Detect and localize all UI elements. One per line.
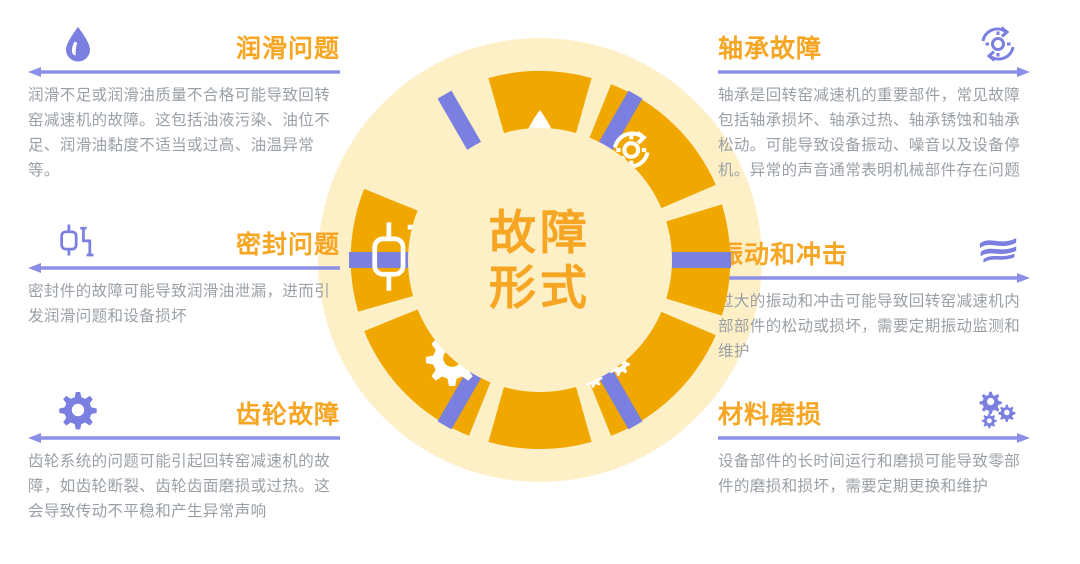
panel-gear-arrow [28,432,340,444]
gear-icon [58,390,98,430]
multi-gear-icon [978,390,1018,430]
gear-rotation-icon [978,24,1018,64]
panel-gear-body: 齿轮系统的问题可能引起回转窑减速机的故障，如齿轮断裂、齿轮齿面磨损或过热。这会导… [28,449,340,524]
center-title-line2: 形式 [489,260,591,315]
panel-bearing[interactable]: 轴承故障 轴承是回转窑减速机的重要部件，常见故障包括轴承损坏、轴承过热、轴承锈蚀… [718,16,1030,183]
panel-bearing-body: 轴承是回转窑减速机的重要部件，常见故障包括轴承损坏、轴承过热、轴承锈蚀和轴承松动… [718,83,1030,183]
panel-bearing-header: 轴承故障 [718,16,1030,62]
center-title-line1: 故障 [489,205,591,260]
panel-vibration-arrow [718,272,1030,284]
panel-wear-body: 设备部件的长时间运行和磨损可能导致零部件的磨损和损坏，需要定期更换和维护 [718,449,1030,499]
panel-lubrication-header: 润滑问题 [28,16,340,62]
droplet-icon [58,24,98,64]
panel-wear[interactable]: 材料磨损 设备部件的长时间运行和磨损可能导致零部件的磨损和损坏，需要定期更换和维… [718,382,1030,499]
panel-bearing-arrow [718,66,1030,78]
panel-lubrication-arrow [28,66,340,78]
separator-bar-2 [669,252,731,268]
panel-vibration-header: 振动和冲击 [718,222,1030,268]
panel-seal-header: 密封问题 [28,212,340,258]
panel-gear[interactable]: 齿轮故障 齿轮系统的问题可能引起回转窑减速机的故障，如齿轮断裂、齿轮齿面磨损或过… [28,382,340,524]
panel-wear-arrow [718,432,1030,444]
panel-seal-body: 密封件的故障可能导致润滑油泄漏，进而引发润滑问题和设备损坏 [28,279,340,329]
infographic-canvas: 故障 形式 润滑问题 润滑不足或润滑油质量不合格可能导致回转窑减速机的故障。这包… [0,0,1080,564]
panel-lubrication-body: 润滑不足或润滑油质量不合格可能导致回转窑减速机的故障。这包括油液污染、油位不足、… [28,83,340,183]
panel-vibration[interactable]: 振动和冲击 过大的振动和冲击可能导致回转窑减速机内部部件的松动或损坏，需要定期振… [718,222,1030,364]
panel-vibration-body: 过大的振动和冲击可能导致回转窑减速机内部部件的松动或损坏，需要定期振动监测和维护 [718,289,1030,364]
panel-lubrication[interactable]: 润滑问题 润滑不足或润滑油质量不合格可能导致回转窑减速机的故障。这包括油液污染、… [28,16,340,183]
wave-icon [978,230,1018,270]
wheel-center-title: 故障 形式 [408,128,672,392]
seal-icon [58,220,98,260]
panel-seal-arrow [28,262,340,274]
panel-wear-header: 材料磨损 [718,382,1030,428]
panel-gear-header: 齿轮故障 [28,382,340,428]
panel-seal[interactable]: 密封问题 密封件的故障可能导致润滑油泄漏，进而引发润滑问题和设备损坏 [28,212,340,329]
